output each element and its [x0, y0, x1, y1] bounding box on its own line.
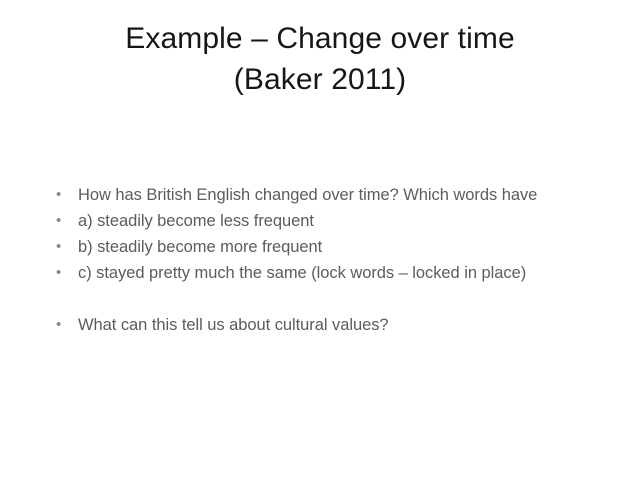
list-item: • What can this tell us about cultural v… [52, 312, 612, 338]
list-item-label: c) stayed pretty much the same (lock wor… [78, 260, 612, 286]
bullet-point-icon: • [52, 260, 78, 286]
list-item: • b) steadily become more frequent [52, 234, 612, 260]
list-item-label: How has British English changed over tim… [78, 182, 612, 208]
bullet-point-icon: • [52, 312, 78, 338]
list-item-label: b) steadily become more frequent [78, 234, 612, 260]
list-item-label: What can this tell us about cultural val… [78, 312, 612, 338]
slide-bullet-list: • How has British English changed over t… [52, 182, 612, 338]
slide-title: Example – Change over time (Baker 2011) [0, 18, 640, 100]
slide-canvas: Example – Change over time (Baker 2011) … [0, 0, 640, 480]
list-item-label: a) steadily become less frequent [78, 208, 612, 234]
bullet-point-icon: • [52, 234, 78, 260]
slide-title-line-2: (Baker 2011) [0, 59, 640, 100]
bullet-point-icon: • [52, 182, 78, 208]
list-item: • c) stayed pretty much the same (lock w… [52, 260, 612, 286]
list-item: • a) steadily become less frequent [52, 208, 612, 234]
slide-title-line-1: Example – Change over time [0, 18, 640, 59]
bullet-point-icon: • [52, 208, 78, 234]
list-item: • How has British English changed over t… [52, 182, 612, 208]
